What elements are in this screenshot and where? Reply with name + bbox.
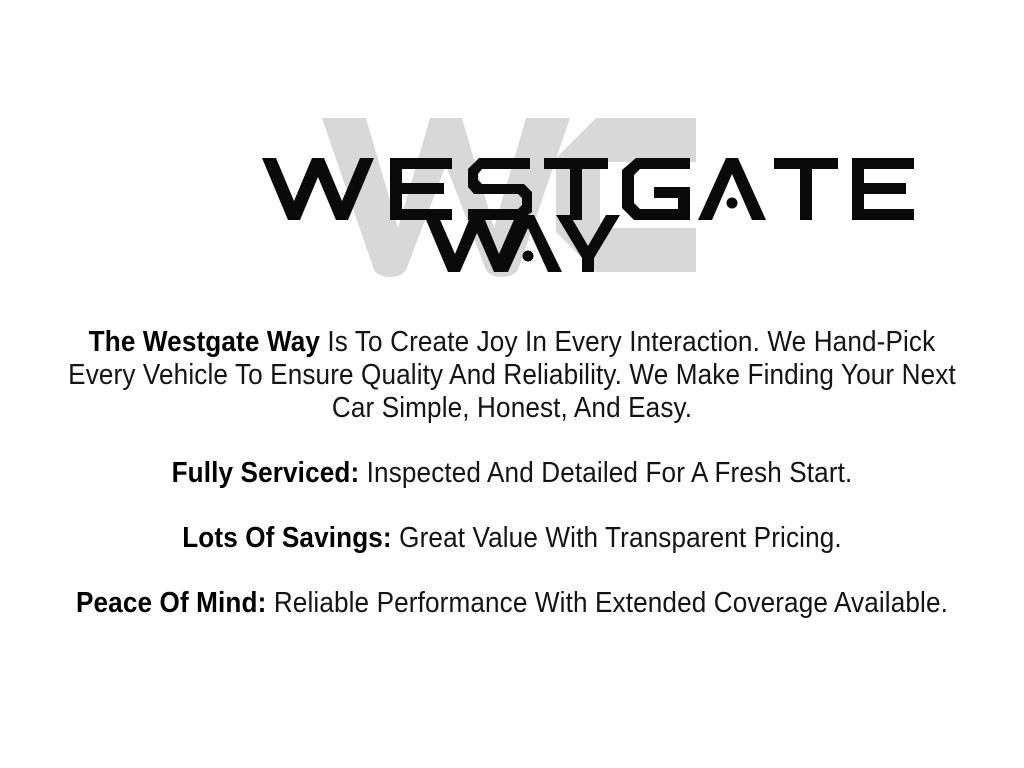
paragraph-peace-of-mind-body: Reliable Performance With Extended Cover… [266, 587, 948, 619]
logo-block [0, 95, 1024, 290]
paragraph-peace-of-mind-lead: Peace Of Mind: [76, 587, 266, 619]
paragraph-fully-serviced-body: Inspected And Detailed For A Fresh Start… [359, 457, 852, 489]
paragraph-lots-of-savings-lead: Lots Of Savings: [182, 522, 392, 554]
body-copy: The Westgate Way Is To Create Joy In Eve… [0, 326, 1024, 620]
slide-canvas: The Westgate Way Is To Create Joy In Eve… [0, 0, 1024, 768]
logo-a-dot-icon [727, 198, 738, 209]
paragraph-peace-of-mind: Peace Of Mind: Reliable Performance With… [51, 587, 973, 620]
paragraph-lots-of-savings: Lots Of Savings: Great Value With Transp… [51, 522, 973, 555]
logo-way-a-dot-icon [523, 251, 534, 262]
paragraph-intro: The Westgate Way Is To Create Joy In Eve… [51, 326, 973, 425]
paragraph-fully-serviced: Fully Serviced: Inspected And Detailed F… [51, 457, 973, 490]
paragraph-fully-serviced-lead: Fully Serviced: [172, 457, 360, 489]
westgate-way-logo [0, 95, 1024, 290]
paragraph-lots-of-savings-body: Great Value With Transparent Pricing. [392, 522, 842, 554]
paragraph-intro-lead: The Westgate Way [89, 326, 320, 358]
